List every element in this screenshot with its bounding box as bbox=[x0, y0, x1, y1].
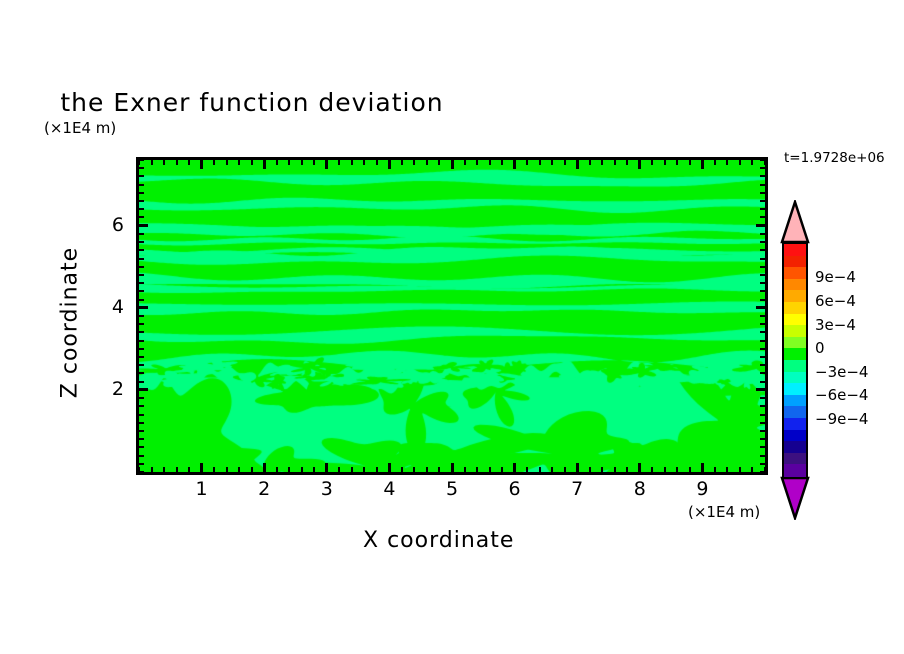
x-tick-top bbox=[188, 160, 190, 165]
y-tick-right bbox=[756, 306, 765, 309]
time-annotation: t=1.9728e+06 bbox=[784, 150, 885, 166]
colorbar-band bbox=[784, 290, 806, 302]
x-tick-bottom bbox=[401, 467, 403, 472]
x-tick-bottom bbox=[200, 463, 203, 472]
y-tick-right bbox=[760, 274, 765, 276]
x-tick-bottom bbox=[701, 463, 704, 472]
x-tick-top bbox=[576, 160, 579, 169]
y-tick-right bbox=[760, 455, 765, 457]
y-tick-right bbox=[760, 299, 765, 301]
y-tick-left bbox=[139, 306, 148, 309]
colorbar-band bbox=[784, 314, 806, 326]
y-tick-right bbox=[760, 290, 765, 292]
y-tick-right bbox=[760, 315, 765, 317]
x-tick-top bbox=[288, 160, 290, 165]
y-tick-left bbox=[139, 340, 144, 342]
y-tick-right bbox=[760, 372, 765, 374]
colorbar-band bbox=[784, 464, 806, 476]
y-tick-right bbox=[760, 184, 765, 186]
x-tick-top bbox=[263, 160, 266, 169]
x-tick-bottom bbox=[589, 467, 591, 472]
x-tick-top bbox=[376, 160, 378, 165]
y-tick-left bbox=[139, 364, 144, 366]
colorbar-tick-label: −3e−4 bbox=[815, 363, 868, 381]
colorbar-band bbox=[784, 325, 806, 337]
x-tick-bottom bbox=[338, 467, 340, 472]
colorbar-band bbox=[784, 395, 806, 407]
x-tick-bottom bbox=[226, 467, 228, 472]
y-tick-right bbox=[760, 414, 765, 416]
x-tick-bottom bbox=[464, 467, 466, 472]
colorbar-band bbox=[784, 302, 806, 314]
x-tick-top bbox=[238, 160, 240, 165]
colorbar-band bbox=[784, 337, 806, 349]
y-tick-right bbox=[760, 405, 765, 407]
y-tick-left bbox=[139, 438, 144, 440]
y-tick-left bbox=[139, 397, 144, 399]
x-tick-top bbox=[313, 160, 315, 165]
x-tick-bottom bbox=[638, 463, 641, 472]
x-tick-top bbox=[626, 160, 628, 165]
x-tick-top bbox=[338, 160, 340, 165]
x-tick-bottom bbox=[151, 467, 153, 472]
colorbar-band bbox=[784, 256, 806, 268]
y-tick-right bbox=[760, 159, 765, 161]
y-tick-left bbox=[139, 249, 144, 251]
x-tick-bottom bbox=[751, 467, 753, 472]
y-tick-left bbox=[139, 274, 144, 276]
x-tick-top bbox=[200, 160, 203, 169]
y-tick-label: 2 bbox=[84, 378, 124, 400]
x-tick-top bbox=[614, 160, 616, 165]
figure-canvas: the Exner function deviation (×1E4 m) t=… bbox=[0, 0, 904, 654]
y-tick-left bbox=[139, 471, 144, 473]
y-tick-left bbox=[139, 200, 144, 202]
y-tick-right bbox=[760, 471, 765, 473]
colorbar-tick-label: 6e−4 bbox=[815, 292, 856, 310]
y-tick-left bbox=[139, 315, 144, 317]
y-tick-left bbox=[139, 184, 144, 186]
x-tick-top bbox=[476, 160, 478, 165]
colorbar-tick-label: 3e−4 bbox=[815, 316, 856, 334]
x-tick-label: 7 bbox=[557, 478, 597, 500]
page-title: the Exner function deviation bbox=[0, 88, 904, 117]
colorbar-tick-label: −9e−4 bbox=[815, 410, 868, 428]
x-tick-bottom bbox=[689, 467, 691, 472]
y-tick-right bbox=[760, 323, 765, 325]
x-tick-bottom bbox=[513, 463, 516, 472]
y-tick-left bbox=[139, 323, 144, 325]
y-tick-right bbox=[760, 348, 765, 350]
x-tick-top bbox=[676, 160, 678, 165]
x-tick-top bbox=[739, 160, 741, 165]
colorbar-band bbox=[784, 360, 806, 372]
y-tick-right bbox=[760, 364, 765, 366]
x-tick-bottom bbox=[626, 467, 628, 472]
y-tick-left bbox=[139, 175, 144, 177]
y-tick-left bbox=[139, 159, 144, 161]
x-tick-top bbox=[701, 160, 704, 169]
y-tick-left bbox=[139, 405, 144, 407]
y-tick-right bbox=[760, 282, 765, 284]
colorbar-tick-label: 0 bbox=[815, 339, 825, 357]
x-tick-bottom bbox=[376, 467, 378, 472]
x-tick-bottom bbox=[489, 467, 491, 472]
colorbar-tick-label: 9e−4 bbox=[815, 268, 856, 286]
x-tick-bottom bbox=[476, 467, 478, 472]
y-tick-left bbox=[139, 266, 144, 268]
x-tick-top bbox=[226, 160, 228, 165]
x-tick-bottom bbox=[426, 467, 428, 472]
colorbar-band bbox=[784, 383, 806, 395]
y-tick-right bbox=[756, 224, 765, 227]
y-tick-right bbox=[760, 422, 765, 424]
y-tick-right bbox=[760, 463, 765, 465]
x-tick-bottom bbox=[263, 463, 266, 472]
x-tick-top bbox=[363, 160, 365, 165]
x-tick-top bbox=[451, 160, 454, 169]
x-tick-label: 3 bbox=[307, 478, 347, 500]
x-tick-bottom bbox=[676, 467, 678, 472]
colorbar-band bbox=[784, 348, 806, 360]
y-tick-left bbox=[139, 381, 144, 383]
x-tick-bottom bbox=[301, 467, 303, 472]
colorbar-band bbox=[784, 244, 806, 256]
x-tick-top bbox=[176, 160, 178, 165]
y-tick-right bbox=[760, 208, 765, 210]
colorbar-band bbox=[784, 430, 806, 442]
x-tick-bottom bbox=[325, 463, 328, 472]
y-tick-left bbox=[139, 192, 144, 194]
x-tick-top bbox=[726, 160, 728, 165]
y-tick-left bbox=[139, 372, 144, 374]
x-tick-bottom bbox=[413, 467, 415, 472]
x-tick-top bbox=[564, 160, 566, 165]
y-tick-right bbox=[760, 397, 765, 399]
colorbar-tick-label: −6e−4 bbox=[815, 386, 868, 404]
colorbar-band bbox=[784, 441, 806, 453]
y-tick-right bbox=[760, 200, 765, 202]
colorbar-band bbox=[784, 372, 806, 384]
x-tick-bottom bbox=[188, 467, 190, 472]
x-tick-top bbox=[351, 160, 353, 165]
y-tick-right bbox=[760, 356, 765, 358]
colorbar-bands bbox=[782, 242, 808, 478]
x-tick-top bbox=[413, 160, 415, 165]
x-tick-bottom bbox=[739, 467, 741, 472]
y-tick-right bbox=[760, 430, 765, 432]
y-tick-left bbox=[139, 463, 144, 465]
x-tick-top bbox=[526, 160, 528, 165]
y-tick-right bbox=[760, 167, 765, 169]
x-axis-unit-label: (×1E4 m) bbox=[688, 503, 760, 521]
x-tick-label: 5 bbox=[432, 478, 472, 500]
x-tick-top bbox=[664, 160, 666, 165]
y-tick-left bbox=[139, 258, 144, 260]
x-tick-top bbox=[276, 160, 278, 165]
x-tick-top bbox=[501, 160, 503, 165]
y-tick-right bbox=[760, 340, 765, 342]
x-tick-top bbox=[638, 160, 641, 169]
x-tick-top bbox=[213, 160, 215, 165]
x-tick-bottom bbox=[714, 467, 716, 472]
x-tick-label: 8 bbox=[620, 478, 660, 500]
x-tick-bottom bbox=[601, 467, 603, 472]
x-tick-bottom bbox=[363, 467, 365, 472]
x-tick-bottom bbox=[501, 467, 503, 472]
y-tick-right bbox=[760, 233, 765, 235]
x-tick-top bbox=[751, 160, 753, 165]
x-tick-bottom bbox=[176, 467, 178, 472]
colorbar-band bbox=[784, 418, 806, 430]
colorbar[interactable]: 9e−46e−43e−40−3e−4−6e−4−9e−4 bbox=[779, 200, 813, 520]
y-tick-left bbox=[139, 224, 148, 227]
x-tick-top bbox=[163, 160, 165, 165]
x-tick-top bbox=[651, 160, 653, 165]
y-tick-right bbox=[760, 331, 765, 333]
y-tick-left bbox=[139, 241, 144, 243]
x-tick-bottom bbox=[163, 467, 165, 472]
x-tick-label: 4 bbox=[369, 478, 409, 500]
y-tick-left bbox=[139, 348, 144, 350]
y-tick-left bbox=[139, 282, 144, 284]
y-tick-left bbox=[139, 414, 144, 416]
contour-field bbox=[139, 160, 765, 472]
y-tick-left bbox=[139, 208, 144, 210]
x-tick-top bbox=[551, 160, 553, 165]
y-tick-right bbox=[760, 438, 765, 440]
y-tick-left bbox=[139, 331, 144, 333]
x-tick-top bbox=[589, 160, 591, 165]
x-tick-top bbox=[151, 160, 153, 165]
x-tick-top bbox=[325, 160, 328, 169]
x-tick-bottom bbox=[651, 467, 653, 472]
y-tick-left bbox=[139, 290, 144, 292]
y-tick-right bbox=[760, 258, 765, 260]
contour-plot-area[interactable] bbox=[136, 157, 768, 475]
x-tick-top bbox=[689, 160, 691, 165]
y-tick-left bbox=[139, 216, 144, 218]
y-axis-title: Z coordinate bbox=[58, 223, 83, 423]
x-tick-label: 2 bbox=[244, 478, 284, 500]
y-tick-right bbox=[760, 192, 765, 194]
y-tick-left bbox=[139, 356, 144, 358]
x-tick-bottom bbox=[726, 467, 728, 472]
page-title-text: the Exner function deviation bbox=[60, 88, 443, 117]
x-tick-label: 1 bbox=[182, 478, 222, 500]
y-tick-left bbox=[139, 167, 144, 169]
x-tick-bottom bbox=[564, 467, 566, 472]
y-tick-left bbox=[139, 446, 144, 448]
y-tick-label: 4 bbox=[84, 296, 124, 318]
x-tick-bottom bbox=[576, 463, 579, 472]
x-tick-bottom bbox=[213, 467, 215, 472]
y-tick-left bbox=[139, 299, 144, 301]
colorbar-band bbox=[784, 406, 806, 418]
x-tick-top bbox=[601, 160, 603, 165]
x-tick-top bbox=[513, 160, 516, 169]
x-tick-bottom bbox=[551, 467, 553, 472]
x-tick-bottom bbox=[288, 467, 290, 472]
colorbar-band bbox=[784, 279, 806, 291]
y-tick-label: 6 bbox=[84, 214, 124, 236]
x-tick-top bbox=[714, 160, 716, 165]
x-tick-top bbox=[301, 160, 303, 165]
x-tick-bottom bbox=[451, 463, 454, 472]
y-tick-right bbox=[760, 446, 765, 448]
x-tick-bottom bbox=[276, 467, 278, 472]
y-tick-right bbox=[760, 381, 765, 383]
x-tick-bottom bbox=[614, 467, 616, 472]
x-tick-top bbox=[489, 160, 491, 165]
x-tick-top bbox=[539, 160, 541, 165]
y-tick-right bbox=[760, 175, 765, 177]
y-tick-left bbox=[139, 430, 144, 432]
x-tick-top bbox=[251, 160, 253, 165]
y-tick-left bbox=[139, 388, 148, 391]
y-tick-right bbox=[760, 249, 765, 251]
x-tick-label: 9 bbox=[682, 478, 722, 500]
x-tick-top bbox=[464, 160, 466, 165]
y-tick-right bbox=[760, 216, 765, 218]
x-tick-label: 6 bbox=[495, 478, 535, 500]
x-tick-top bbox=[438, 160, 440, 165]
colorbar-band bbox=[784, 453, 806, 465]
x-tick-bottom bbox=[539, 467, 541, 472]
y-axis-unit-label: (×1E4 m) bbox=[44, 119, 116, 137]
y-tick-left bbox=[139, 455, 144, 457]
y-tick-right bbox=[760, 241, 765, 243]
y-tick-left bbox=[139, 422, 144, 424]
y-tick-right bbox=[756, 388, 765, 391]
x-tick-top bbox=[388, 160, 391, 169]
y-tick-left bbox=[139, 233, 144, 235]
x-tick-bottom bbox=[438, 467, 440, 472]
x-tick-bottom bbox=[251, 467, 253, 472]
x-tick-bottom bbox=[351, 467, 353, 472]
colorbar-band bbox=[784, 267, 806, 279]
x-tick-bottom bbox=[313, 467, 315, 472]
x-tick-top bbox=[401, 160, 403, 165]
x-tick-bottom bbox=[526, 467, 528, 472]
x-axis-title: X coordinate bbox=[363, 528, 514, 553]
x-tick-bottom bbox=[388, 463, 391, 472]
x-tick-top bbox=[426, 160, 428, 165]
x-tick-bottom bbox=[664, 467, 666, 472]
x-tick-bottom bbox=[238, 467, 240, 472]
y-tick-right bbox=[760, 266, 765, 268]
